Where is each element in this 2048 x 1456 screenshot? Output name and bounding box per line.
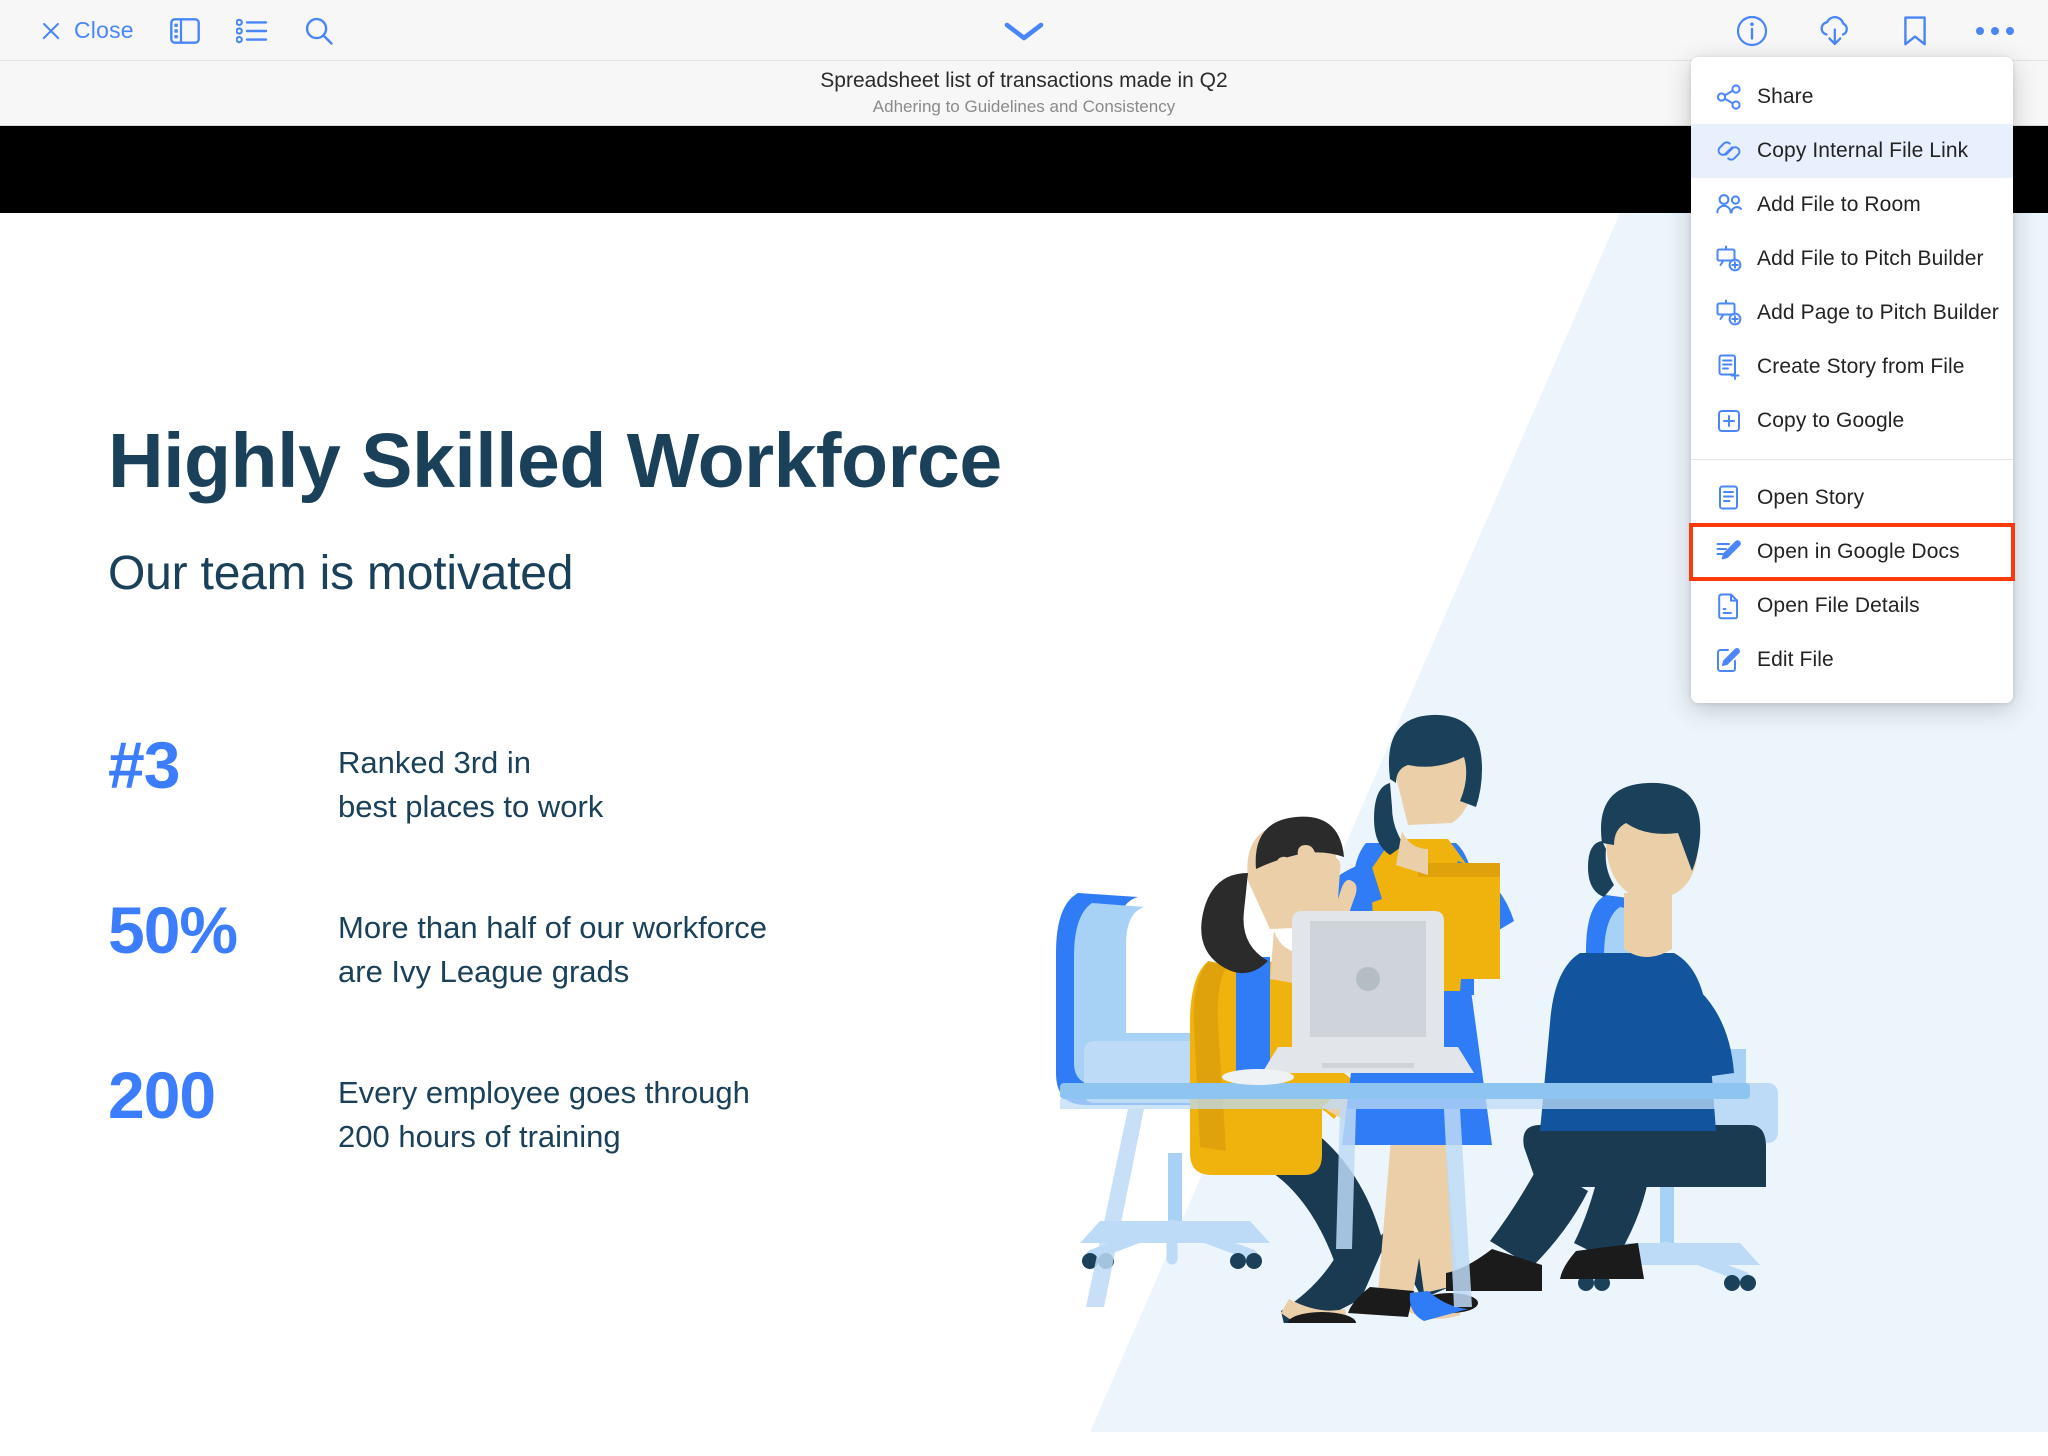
document-title: Spreadsheet list of transactions made in…: [820, 68, 1227, 94]
stat-value: #3: [108, 731, 338, 800]
menu-item-label: Copy to Google: [1757, 409, 1904, 433]
search-icon[interactable]: [304, 16, 334, 46]
edit-square-pencil-icon: [1709, 646, 1749, 674]
menu-item-share[interactable]: Share: [1691, 70, 2013, 124]
close-button-label: Close: [74, 17, 134, 44]
stat-description-line1: Ranked 3rd in: [338, 741, 603, 785]
menu-item-open-in-google-docs[interactable]: Open in Google Docs: [1691, 525, 2013, 579]
menu-item-label: Open in Google Docs: [1757, 540, 1960, 564]
toolbar-right-group: [1736, 0, 2014, 61]
document-lines-icon: [1709, 484, 1749, 512]
menu-item-add-file-to-room[interactable]: Add File to Room: [1691, 178, 2013, 232]
stat-item: 200 Every employee goes through 200 hour…: [108, 1061, 1008, 1226]
more-options-menu: Share Copy Internal File Link Add Fi: [1691, 57, 2013, 703]
slide-heading: Highly Skilled Workforce: [108, 423, 1002, 500]
chevron-down-icon[interactable]: [1002, 19, 1046, 43]
menu-item-label: Add Page to Pitch Builder: [1757, 301, 1999, 325]
bookmark-icon[interactable]: [1902, 15, 1928, 47]
stat-item: 50% More than half of our workforce are …: [108, 896, 1008, 1061]
menu-item-copy-internal-file-link[interactable]: Copy Internal File Link: [1691, 124, 2013, 178]
pencil-lines-icon: [1709, 538, 1749, 566]
menu-item-label: Edit File: [1757, 648, 1834, 672]
square-plus-icon: [1709, 408, 1749, 434]
close-icon: [40, 20, 62, 42]
menu-item-label: Share: [1757, 85, 1814, 109]
menu-item-label: Add File to Room: [1757, 193, 1921, 217]
menu-item-copy-to-google[interactable]: Copy to Google: [1691, 394, 2013, 448]
share-network-icon: [1709, 84, 1749, 110]
menu-item-label: Copy Internal File Link: [1757, 139, 1968, 163]
stat-description: More than half of our workforce are Ivy …: [338, 896, 767, 994]
slide-subheading: Our team is motivated: [108, 546, 573, 601]
info-circle-icon[interactable]: [1736, 15, 1768, 47]
link-chain-icon: [1709, 138, 1749, 164]
slide-stats-list: #3 Ranked 3rd in best places to work 50%…: [108, 731, 1008, 1226]
stat-description: Every employee goes through 200 hours of…: [338, 1061, 750, 1159]
close-button[interactable]: Close: [40, 17, 134, 44]
menu-item-edit-file[interactable]: Edit File: [1691, 633, 2013, 687]
presentation-plus-icon: [1709, 299, 1749, 327]
document-plus-icon: [1709, 353, 1749, 381]
menu-item-add-page-to-pitch-builder[interactable]: Add Page to Pitch Builder: [1691, 286, 2013, 340]
file-details-icon: [1709, 592, 1749, 620]
document-subtitle: Adhering to Guidelines and Consistency: [873, 96, 1175, 118]
top-toolbar: Close: [0, 0, 2048, 61]
stat-description-line2: best places to work: [338, 785, 603, 829]
menu-divider: [1691, 459, 2013, 460]
cloud-download-icon[interactable]: [1816, 15, 1854, 47]
stat-description-line2: are Ivy League grads: [338, 950, 767, 994]
menu-item-open-file-details[interactable]: Open File Details: [1691, 579, 2013, 633]
menu-item-open-story[interactable]: Open Story: [1691, 471, 2013, 525]
people-group-icon: [1709, 192, 1749, 218]
stat-value: 50%: [108, 896, 338, 965]
bullet-list-icon[interactable]: [236, 18, 268, 44]
menu-item-label: Open Story: [1757, 486, 1864, 510]
app-root: Close: [0, 0, 2048, 1456]
stat-item: #3 Ranked 3rd in best places to work: [108, 731, 1008, 896]
menu-item-add-file-to-pitch-builder[interactable]: Add File to Pitch Builder: [1691, 232, 2013, 286]
menu-item-label: Open File Details: [1757, 594, 1920, 618]
stat-description: Ranked 3rd in best places to work: [338, 731, 603, 829]
stat-description-line2: 200 hours of training: [338, 1115, 750, 1159]
menu-item-label: Create Story from File: [1757, 355, 1965, 379]
menu-item-create-story-from-file[interactable]: Create Story from File: [1691, 340, 2013, 394]
toolbar-left-group: Close: [40, 0, 334, 61]
stat-description-line1: More than half of our workforce: [338, 906, 767, 950]
stat-value: 200: [108, 1061, 338, 1130]
stat-description-line1: Every employee goes through: [338, 1071, 750, 1115]
team-illustration: [1040, 543, 1800, 1323]
more-ellipsis-icon[interactable]: [1976, 27, 2014, 35]
menu-item-label: Add File to Pitch Builder: [1757, 247, 1984, 271]
sidebar-panel-icon[interactable]: [170, 18, 200, 44]
presentation-plus-icon: [1709, 245, 1749, 273]
